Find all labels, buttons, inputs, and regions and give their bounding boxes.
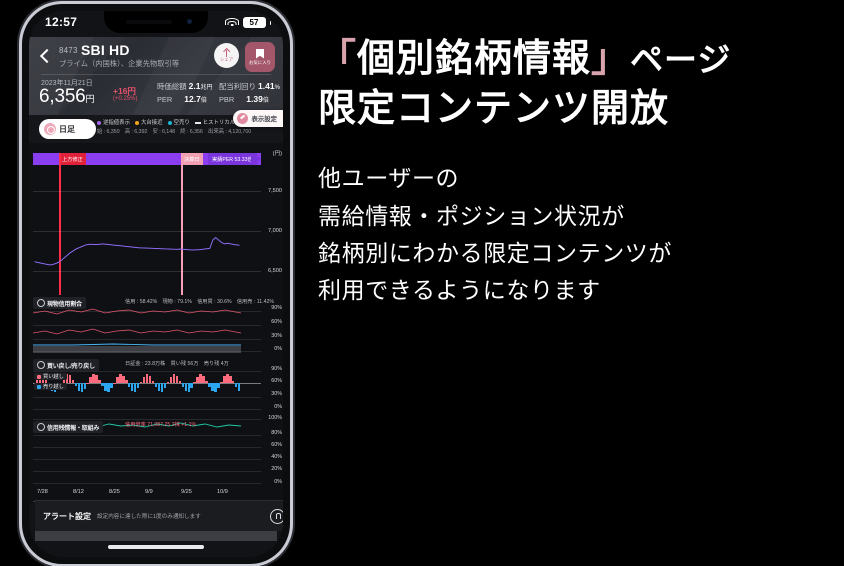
x-axis: 7/288/128/259/99/2510/9 — [33, 489, 261, 499]
y-tick-1: 7,000 — [268, 228, 282, 234]
alert-settings-bar[interactable]: アラート設定 設定内容に達した際に1度のみ通知します — [35, 500, 283, 531]
banner-tag-per: 実績PER 53.33倍 — [208, 153, 257, 165]
gear-icon — [37, 361, 45, 369]
x-tick: 9/25 — [181, 489, 192, 495]
stat-marketcap: 時価総額 2.1兆円 — [157, 81, 212, 92]
favorite-button[interactable]: お気に入り — [245, 42, 275, 72]
legend-item-1[interactable]: 大台接近 — [135, 119, 163, 127]
panel-3-tick-1: 80% — [271, 430, 282, 436]
headline-line-1: 「個別銘柄情報」ページ — [318, 34, 838, 84]
banner-tag-left: 上方修正 — [59, 153, 86, 165]
panel-3-stats: 信用倍率 71,087.25 2株 +1.1% — [125, 421, 196, 428]
panel-2-tick-0: 90% — [271, 366, 282, 372]
x-tick: 8/25 — [109, 489, 120, 495]
stat-pbr: PBR 1.39倍 — [219, 94, 269, 104]
panel-shinyouzan[interactable]: 信用残情報・取組み 信用倍率 71,087.25 2株 +1.1% 100% 8… — [29, 415, 283, 503]
pencil-icon — [237, 113, 248, 124]
x-tick: 10/9 — [217, 489, 228, 495]
price-change: +16円 (+0.25%) — [113, 87, 138, 102]
panel-2-legend-buy: 買い越し — [34, 373, 67, 380]
banner-tag-earnings: 決算日 — [181, 153, 203, 165]
panel-3-title[interactable]: 信用残情報・取組み — [33, 421, 103, 433]
body-line-2: 銘柄別にわかる限定コンテンツが — [318, 235, 838, 272]
timeframe-selector[interactable]: 日足 — [39, 119, 96, 139]
timeframe-label: 日足 — [59, 124, 75, 135]
banner-arrow-icon — [251, 153, 261, 165]
panel-1-stats: 信用 : 58.42% 現物 : 79.1% 信用買 : 30.6% 信用売 :… — [125, 298, 274, 305]
net-position-bar — [137, 383, 139, 388]
panel-2-title[interactable]: 買い戻し/売り戻し — [33, 359, 99, 371]
headline-suffix: ページ — [630, 43, 731, 79]
phone-mockup: 12:57 57 8473 SBI HD プライム（内国株）、企業先物取引等 シ… — [22, 4, 290, 564]
panel-2-tick-3: 0% — [274, 404, 282, 410]
bookmark-icon — [256, 49, 264, 59]
speaker — [126, 20, 172, 24]
panel-genbutsu-shinyou[interactable]: 現物信用割合 信用 : 58.42% 現物 : 79.1% 信用買 : 30.6… — [29, 295, 283, 357]
panel-2-tick-2: 30% — [271, 391, 282, 397]
net-position-bar — [164, 383, 166, 388]
promo-copy: 「個別銘柄情報」ページ 限定コンテンツ開放 他ユーザーの 需給情報・ポジション状… — [318, 34, 838, 309]
display-settings-button[interactable]: 表示設定 — [233, 110, 283, 127]
net-position-bar — [190, 383, 192, 388]
wifi-icon — [226, 18, 239, 28]
headline-line-2: 限定コンテンツ開放 — [318, 84, 838, 134]
bracket-open: 「 — [318, 38, 357, 80]
stat-per: PER 12.7倍 — [157, 94, 207, 104]
stat-yield: 配当利回り 1.41% — [219, 81, 280, 92]
panel-3-tick-0: 100% — [268, 415, 282, 421]
net-position-bar — [217, 383, 219, 388]
promo-body: 他ユーザーの 需給情報・ポジション状況が 銘柄別にわかる限定コンテンツが 利用で… — [318, 160, 838, 309]
body-line-3: 利用できるようになります — [318, 272, 838, 309]
phone-notch — [104, 11, 208, 33]
x-tick: 7/28 — [37, 489, 48, 495]
share-arrow-icon — [223, 49, 230, 58]
panel-kaikoshi-urikoshi[interactable]: 買い戻し/売り戻し 日証金 : 23.8万株 買い残 56万 売り残 4万 買い… — [29, 357, 283, 415]
alert-title: アラート設定 — [43, 511, 91, 522]
panel-3-tick-5: 0% — [274, 479, 282, 485]
panel-1-tick-0: 90% — [271, 305, 282, 311]
panel-3-tick-2: 60% — [271, 442, 282, 448]
bottom-nav-fill — [35, 531, 277, 541]
refresh-icon — [44, 123, 56, 135]
y-tick-2: 6,500 — [268, 268, 282, 274]
battery-icon — [270, 21, 272, 25]
panel-2-tick-1: 60% — [271, 378, 282, 384]
stock-name: SBI HD — [81, 42, 130, 58]
stock-header: 8473 SBI HD プライム（内国株）、企業先物取引等 シェア お気に入り … — [29, 37, 283, 115]
stock-code: 8473 — [59, 46, 78, 55]
net-position-bar — [238, 383, 240, 391]
net-position-bar — [84, 383, 86, 389]
legend-item-0[interactable]: 逆指値表示 — [97, 119, 130, 127]
panel-1-tick-2: 30% — [271, 333, 282, 339]
net-position-bar — [110, 383, 112, 388]
panel-1-tick-3: 0% — [274, 346, 282, 352]
legend-item-2[interactable]: 空売り — [168, 119, 190, 127]
y-tick-0: 7,500 — [268, 188, 282, 194]
panel-3-tick-4: 20% — [271, 466, 282, 472]
panel-1-tick-1: 60% — [271, 319, 282, 325]
header-divider — [41, 74, 271, 75]
panel-3-tick-3: 40% — [271, 454, 282, 460]
gear-icon — [37, 299, 45, 307]
battery-level: 57 — [243, 17, 266, 28]
x-tick: 9/9 — [145, 489, 153, 495]
market-label: プライム（内国株）、企業先物取引等 — [59, 59, 179, 69]
front-camera — [187, 19, 192, 24]
bell-icon[interactable] — [270, 509, 283, 524]
ohlc-summary: 始 : 6,350 高 : 6,392 安 : 6,148 終 : 6,356 … — [97, 128, 279, 136]
back-chevron-icon[interactable] — [35, 47, 55, 67]
x-tick: 8/12 — [73, 489, 84, 495]
share-button[interactable]: シェア — [214, 43, 239, 68]
y-axis-unit: (円) — [273, 149, 282, 157]
body-line-1: 需給情報・ポジション状況が — [318, 198, 838, 235]
stock-price: 6,356円 — [39, 86, 94, 108]
moving-average-line — [33, 165, 241, 305]
bracket-close: 」 — [591, 38, 630, 80]
panel-2-legend-sell: 売り越し — [34, 383, 67, 390]
alert-subtitle: 設定内容に達した際に1度のみ通知します — [97, 512, 201, 520]
home-indicator[interactable] — [108, 545, 204, 549]
body-line-0: 他ユーザーの — [318, 160, 838, 197]
favorite-label: お気に入り — [249, 60, 271, 66]
promo-banner: 12:57 57 8473 SBI HD プライム（内国株）、企業先物取引等 シ… — [0, 0, 844, 566]
gear-icon — [37, 423, 45, 431]
panel-1-title[interactable]: 現物信用割合 — [33, 297, 86, 309]
promo-headline: 「個別銘柄情報」ページ 限定コンテンツ開放 — [318, 34, 838, 134]
panel-2-stats: 日証金 : 23.8万株 買い残 56万 売り残 4万 — [125, 360, 229, 367]
phone-screen: 12:57 57 8473 SBI HD プライム（内国株）、企業先物取引等 シ… — [29, 11, 283, 557]
event-banner: 上方修正 決算日 実績PER 53.33倍 — [33, 153, 261, 165]
status-time: 12:57 — [45, 15, 77, 29]
price-chart[interactable]: 上方修正 決算日 実績PER 53.33倍 (円) 7,500 7,000 6,… — [29, 143, 283, 503]
display-settings-label: 表示設定 — [251, 114, 277, 123]
headline-main: 個別銘柄情報 — [357, 38, 591, 80]
